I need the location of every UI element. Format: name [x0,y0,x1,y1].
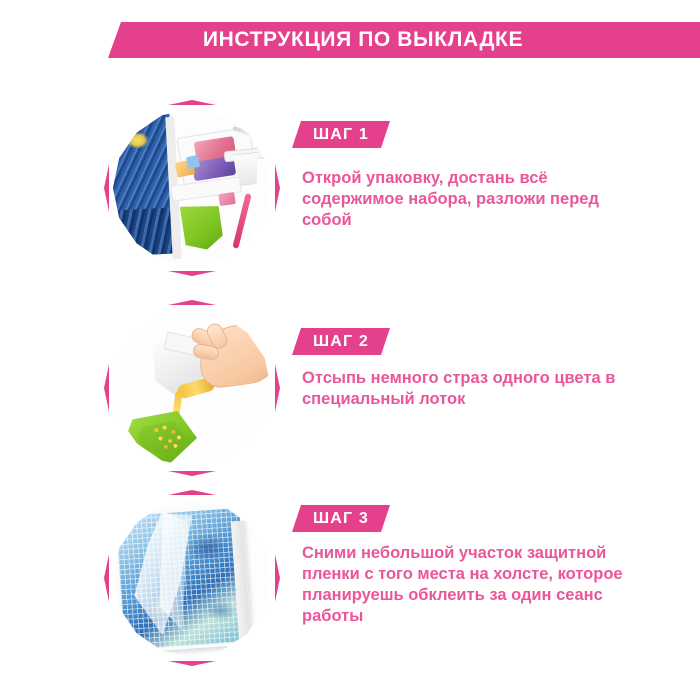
step-2-image-circle [104,300,280,476]
rhinestones-in-tray [153,425,187,451]
applicator-pen-tip [250,245,257,258]
header-banner: ИНСТРУКЦИЯ ПО ВЫКЛАДКЕ [108,22,700,58]
step-3-badge: ШАГ 3 [292,505,390,532]
wax-square [218,192,236,206]
step-3-text: Сними небольшой участок защитной пленки … [302,543,632,627]
step-1-badge-label: ШАГ 1 [313,126,369,144]
step-2-badge-label: ШАГ 2 [313,333,369,351]
pouring-rhinestones-photo [113,309,271,467]
rhinestone-packet-blue [186,155,200,169]
green-tray [178,203,224,251]
step-1-image-circle [104,100,280,276]
photo-scene-3 [113,499,271,657]
step-1-text: Открой упаковку, достань всё содержимое … [302,168,632,231]
step-1-badge: ШАГ 1 [292,121,390,148]
photo-scene-2 [113,309,271,467]
canvas-film-photo [113,499,271,657]
step-2-text: Отсыпь немного страз одного цвета в спец… [302,368,632,410]
photo-scene-1 [113,109,271,267]
page-title: ИНСТРУКЦИЯ ПО ВЫКЛАДКЕ [203,28,605,52]
step-2-badge: ШАГ 2 [292,328,390,355]
kit-contents-photo [113,109,271,267]
step-3-image-circle [104,490,280,666]
step-3-badge-label: ШАГ 3 [313,510,369,528]
